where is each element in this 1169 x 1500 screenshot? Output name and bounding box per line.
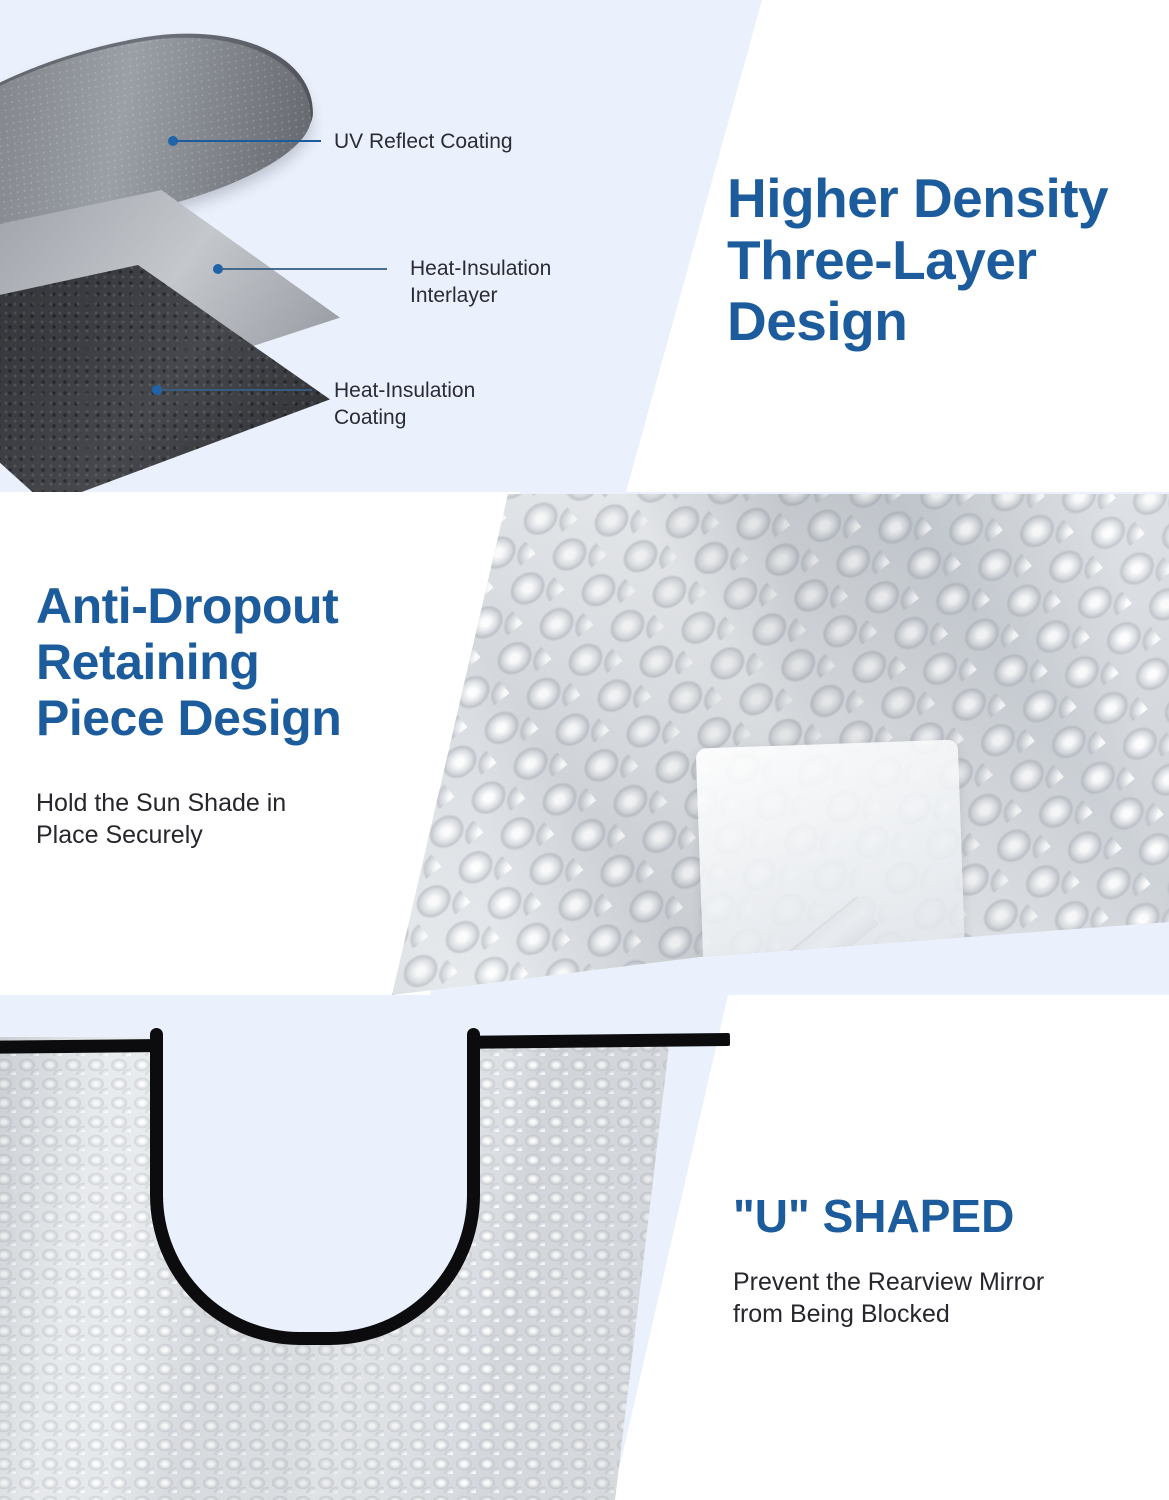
- rearview-mirror-notch-opening: [150, 1028, 480, 1044]
- callout-leader-uv-reflect: [176, 140, 321, 142]
- callout-label-uv-reflect: UV Reflect Coating: [334, 128, 634, 155]
- callout-label-heat-insulation-interlayer: Heat-Insulation Interlayer: [410, 255, 670, 310]
- notch-binding-lip-right: [467, 1028, 480, 1056]
- notch-binding-lip-left: [150, 1028, 163, 1056]
- section-subtitle-u-shaped: Prevent the Rearview Mirror from Being B…: [733, 1266, 1133, 1330]
- section-heading-three-layer-design: Higher Density Three-Layer Design: [727, 168, 1157, 353]
- rearview-mirror-notch: [150, 1035, 480, 1345]
- section-u-shaped: "U" SHAPED Prevent the Rearview Mirror f…: [0, 995, 1169, 1500]
- section-heading-u-shaped: "U" SHAPED: [733, 1191, 1153, 1243]
- product-feature-infographic: UV Reflect Coating Heat-Insulation Inter…: [0, 0, 1169, 1500]
- section-heading-anti-dropout: Anti-Dropout Retaining Piece Design: [36, 578, 466, 746]
- callout-leader-heat-insulation-coating: [160, 389, 312, 391]
- section-three-layer-design: UV Reflect Coating Heat-Insulation Inter…: [0, 0, 1169, 492]
- callout-leader-heat-insulation-interlayer: [221, 268, 387, 270]
- section-anti-dropout: Anti-Dropout Retaining Piece Design Hold…: [0, 492, 1169, 995]
- section-subtitle-anti-dropout: Hold the Sun Shade in Place Securely: [36, 787, 376, 851]
- callout-label-heat-insulation-coating: Heat-Insulation Coating: [334, 377, 594, 432]
